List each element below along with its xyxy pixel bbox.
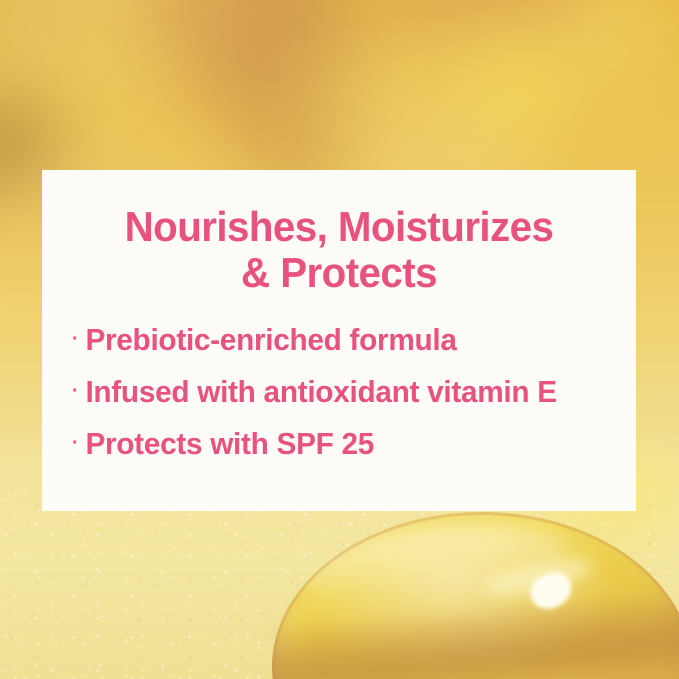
bullet-dot-icon: · (72, 433, 85, 453)
product-feature-graphic: Nourishes, Moisturizes & Protects · Preb… (0, 0, 679, 679)
feature-card: Nourishes, Moisturizes & Protects · Preb… (42, 170, 636, 511)
list-item: · Protects with SPF 25 (72, 428, 613, 459)
page-title: Nourishes, Moisturizes & Protects (54, 170, 624, 296)
list-item: · Infused with antioxidant vitamin E (72, 376, 613, 407)
bullet-dot-icon: · (72, 329, 85, 349)
bullet-dot-icon: · (72, 381, 85, 401)
list-item-label: Protects with SPF 25 (85, 428, 613, 459)
list-item-label: Infused with antioxidant vitamin E (85, 376, 613, 407)
list-item-label: Prebiotic-enriched formula (85, 324, 613, 355)
list-item: · Prebiotic-enriched formula (72, 324, 613, 355)
feature-list: · Prebiotic-enriched formula · Infused w… (42, 296, 636, 459)
bokeh-blob (560, 0, 670, 100)
bokeh-blob (38, 15, 188, 125)
headline-line-2: & Protects (81, 250, 597, 296)
headline-line-1: Nourishes, Moisturizes (81, 204, 597, 250)
